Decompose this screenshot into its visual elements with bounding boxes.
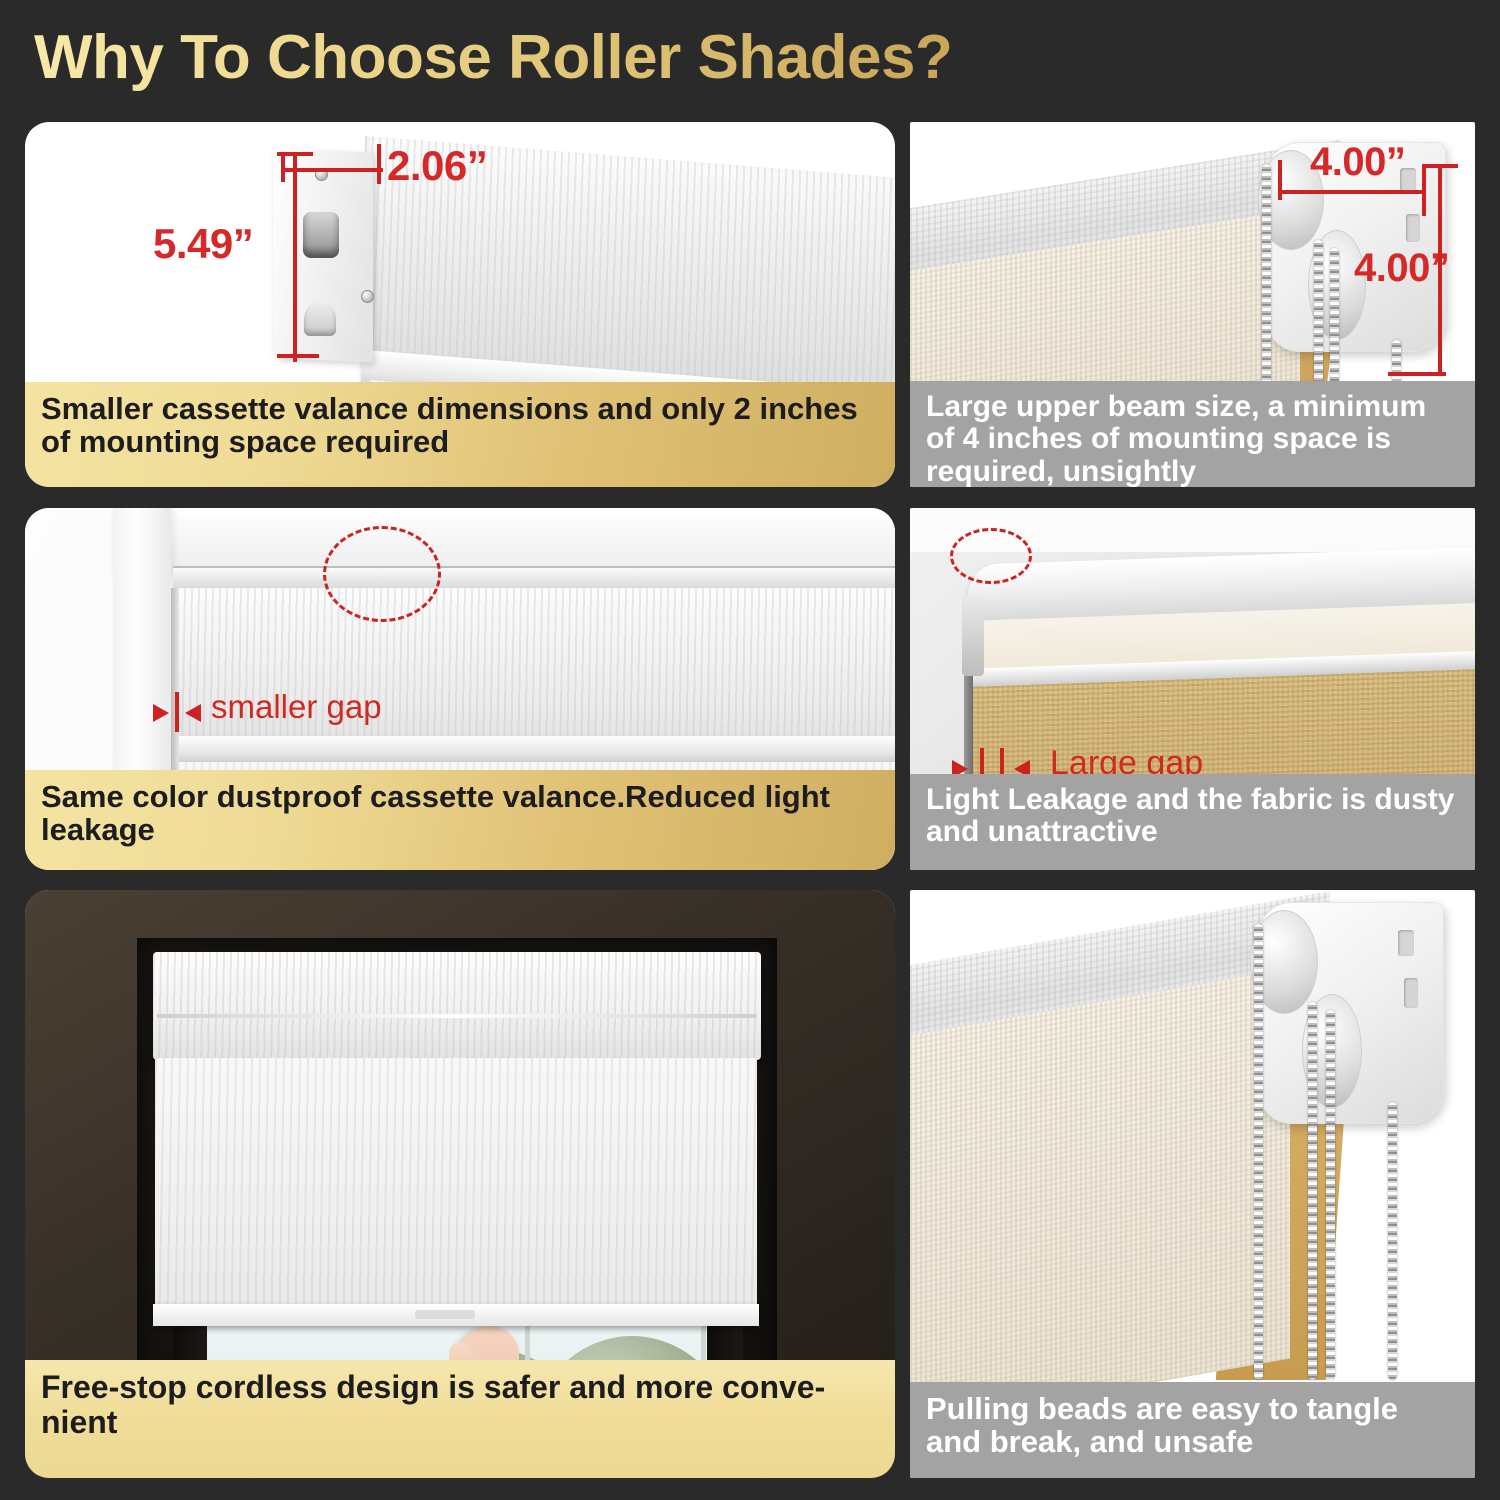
dim-cap-top — [277, 152, 313, 156]
pull-tab — [415, 1310, 475, 1319]
bracket-screw — [361, 290, 374, 303]
bead-chain — [1262, 164, 1271, 406]
caption-con-pulling-beads: Pulling beads are easy to tangle and bre… — [910, 1382, 1475, 1478]
dim-cap-bottom — [1388, 372, 1446, 376]
dim-tick-right — [377, 144, 381, 184]
bead-chain — [1308, 1002, 1317, 1380]
window-frame-top — [113, 508, 895, 572]
shade-fabric — [910, 968, 1290, 1425]
bracket-pin — [304, 302, 336, 336]
caption-pro-smaller-gap: Same color dustproof cassette valance.Re… — [25, 770, 895, 870]
dim-cap-top — [1422, 164, 1458, 168]
page-title: Why To Choose Roller Shades? — [34, 22, 952, 93]
infographic-page: Why To Choose Roller Shades? 2.06” 5.49”… — [0, 0, 1500, 1500]
panel-con-light-leakage: Large gap Light Leakage and the fabric i… — [910, 508, 1475, 870]
gap-tick — [175, 692, 179, 732]
cassette-valance — [173, 566, 895, 588]
dim-line-height — [293, 152, 297, 362]
caption-con-large-upper-beam: Large upper beam size, a minimum of 4 in… — [910, 381, 1475, 487]
bracket-slot — [303, 212, 339, 258]
dim-label-height: 4.00” — [1354, 246, 1449, 291]
bracket-notch — [1404, 978, 1418, 1008]
dim-tick-left — [1278, 160, 1282, 200]
bracket-notch — [1406, 214, 1420, 242]
cassette-valance — [153, 952, 761, 1060]
bracket-bit — [962, 596, 984, 676]
dim-label-width: 4.00” — [1310, 140, 1405, 185]
shade-fabric — [155, 1058, 757, 1318]
dim-label-height: 5.49” — [153, 220, 253, 268]
panel-pro-cassette-dimensions: 2.06” 5.49” Smaller cassette valance dim… — [25, 122, 895, 487]
dim-tick-left — [281, 152, 285, 182]
panel-con-pulling-beads: Pulling beads are easy to tangle and bre… — [910, 890, 1475, 1478]
bead-chain — [1388, 1102, 1397, 1380]
dim-line-width — [283, 168, 383, 172]
bead-chain — [1254, 924, 1263, 1380]
panel-con-large-upper-beam: 4.00” 4.00” Large upper beam size, a min… — [910, 122, 1475, 487]
shade-rail — [173, 736, 895, 762]
highlight-circle-icon — [323, 526, 441, 622]
gap-arrow-left-icon — [185, 704, 201, 722]
dim-label-width: 2.06” — [387, 142, 487, 190]
gap-label: smaller gap — [211, 688, 382, 726]
highlight-circle-icon — [950, 528, 1032, 584]
caption-pro-cordless-design: Free-stop cordless design is safer and m… — [25, 1360, 895, 1478]
bracket-notch — [1398, 930, 1414, 956]
caption-con-light-leakage: Light Leakage and the fabric is dusty an… — [910, 774, 1475, 870]
gap-arrow-right-icon — [153, 704, 169, 722]
dim-line-width — [1280, 190, 1426, 194]
dim-cap-bottom — [277, 354, 319, 358]
panel-pro-cordless-design: Free-stop cordless design is safer and m… — [25, 890, 895, 1478]
caption-pro-cassette-dimensions: Smaller cassette valance dimensions and … — [25, 382, 895, 487]
valance-seam — [157, 1014, 757, 1018]
panel-pro-smaller-gap: smaller gap Same color dustproof cassett… — [25, 508, 895, 870]
bead-chain — [1326, 1010, 1335, 1380]
